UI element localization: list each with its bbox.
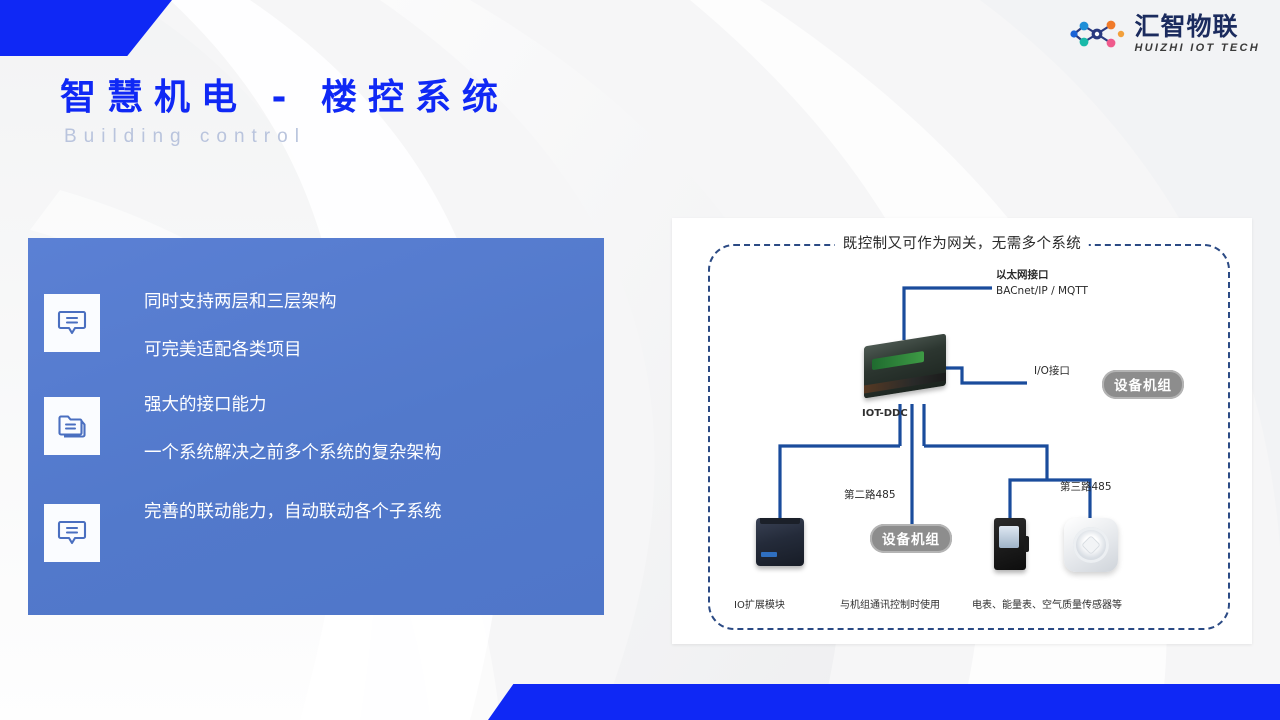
diagram-connection-lines	[672, 218, 1252, 644]
bus3-label: 第三路485	[1060, 480, 1112, 494]
feature-text: 同时支持两层和三层架构	[144, 294, 337, 312]
io-expansion-module-image	[756, 518, 804, 566]
io-expansion-module-caption: IO扩展模块	[734, 596, 785, 611]
equipment-unit-pill-right: 设备机组	[1102, 370, 1184, 399]
feature-row: 强大的接口能力 一个系统解决之前多个系统的复杂架构	[44, 397, 442, 462]
io-port-label: I/O接口	[1034, 364, 1070, 378]
feature-panel: 同时支持两层和三层架构 可完美适配各类项目 强大的接口能力 一个系统解决之前多个…	[28, 238, 604, 615]
feature-text: 可完美适配各类项目	[144, 342, 337, 360]
feature-row: 完善的联动能力，自动联动各个子系统	[44, 504, 442, 562]
logo-text-en: HUIZHI IOT TECH	[1134, 43, 1260, 54]
feature-text: 强大的接口能力	[144, 397, 442, 415]
iot-ddc-label: IOT-DDC	[862, 408, 908, 419]
feature-text: 一个系统解决之前多个系统的复杂架构	[144, 445, 442, 463]
speech-bubble-icon	[44, 294, 100, 352]
speech-bubble-icon	[44, 504, 100, 562]
bottom-accent-bar	[488, 684, 1280, 720]
equipment-unit-pill-center: 设备机组	[870, 524, 952, 553]
ethernet-port-label: 以太网接口	[996, 268, 1049, 282]
page-title: 智慧机电 - 楼控系统	[60, 68, 509, 120]
bus2-label: 第二路485	[844, 488, 896, 502]
molecule-network-icon	[1070, 14, 1126, 54]
center-note-caption: 与机组通讯控制时使用	[840, 596, 940, 611]
brand-logo: 汇智物联 HUIZHI IOT TECH	[1070, 14, 1260, 54]
feature-row: 同时支持两层和三层架构 可完美适配各类项目	[44, 294, 337, 359]
energy-meter-image	[994, 518, 1026, 570]
iot-ddc-device-image	[864, 340, 946, 392]
page-subtitle: Building control	[64, 126, 306, 148]
feature-text: 完善的联动能力，自动联动各个子系统	[144, 504, 442, 522]
air-quality-sensor-image	[1064, 518, 1118, 572]
logo-text-cn: 汇智物联	[1134, 14, 1238, 39]
ethernet-protocol-label: BACnet/IP / MQTT	[996, 284, 1088, 298]
meters-caption: 电表、能量表、空气质量传感器等	[972, 596, 1122, 611]
architecture-diagram-card: 既控制又可作为网关，无需多个系统 IOT-DDC 以太网接口 BACnet/IP…	[672, 218, 1252, 644]
folder-document-icon	[44, 397, 100, 455]
